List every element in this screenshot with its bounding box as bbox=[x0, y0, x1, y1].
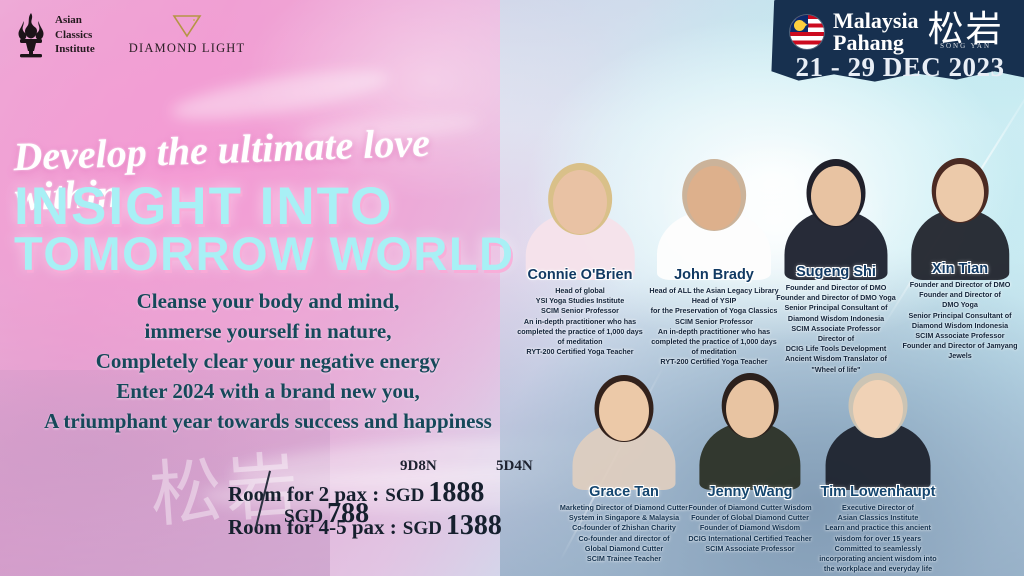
presenter-card: Connie O'BrienHead of globalYSI Yoga Stu… bbox=[504, 268, 656, 357]
presenter-card: Jenny WangFounder of Diamond Cutter Wisd… bbox=[684, 485, 816, 554]
presenter-card: John BradyHead of ALL the Asian Legacy L… bbox=[638, 268, 790, 368]
body-copy-line: Completely clear your negative energy bbox=[18, 346, 518, 376]
presenter-portrait bbox=[821, 360, 935, 490]
pricing-header-5d4n: 5D4N bbox=[496, 458, 533, 475]
presenter-portrait-face bbox=[726, 380, 774, 438]
presenter-bio-line: Head of YSIP bbox=[638, 296, 790, 306]
presenter-name: Tim Lowenhaupt bbox=[808, 485, 948, 501]
presenter-portrait-face bbox=[687, 166, 741, 230]
presenter-bio: Founder and Director of DMOFounder and D… bbox=[896, 280, 1024, 362]
presenter-portrait bbox=[907, 144, 1013, 280]
body-copy: Cleanse your body and mind,immerse yours… bbox=[18, 286, 518, 436]
asian-classics-institute-logo: Asian Classics Institute bbox=[14, 12, 95, 58]
presenter-bio-line: Committed to seamlessly bbox=[808, 544, 948, 554]
presenter-bio-line: SCIM Associate Professor bbox=[896, 331, 1024, 341]
presenter-name: Sugeng Shi bbox=[770, 265, 902, 281]
presenter-bio-line: completed the practice of 1,000 days bbox=[504, 327, 656, 337]
presenter-bio-line: Founder and Director of DMO bbox=[896, 280, 1024, 290]
presenter-bio: Founder of Diamond Cutter WisdomFounder … bbox=[684, 503, 816, 554]
presenter-card: Sugeng ShiFounder and Director of DMOFou… bbox=[770, 265, 902, 375]
presenter-bio-line: Founder of Diamond Wisdom bbox=[684, 523, 816, 533]
presenter-card: Xin TianFounder and Director of DMOFound… bbox=[896, 262, 1024, 362]
presenter-bio-line: of meditation bbox=[504, 337, 656, 347]
aci-line-1: Asian bbox=[55, 13, 95, 28]
presenter-card: Grace TanMarketing Director of Diamond C… bbox=[558, 485, 690, 564]
presenter-bio: Head of ALL the Asian Legacy LibraryHead… bbox=[638, 286, 790, 368]
body-copy-line: immerse yourself in nature, bbox=[18, 316, 518, 346]
presenter-bio-line: for the Preservation of Yoga Classics bbox=[638, 306, 790, 316]
presenter-bio-line: Learn and practice this ancient bbox=[808, 523, 948, 533]
presenter-bio-line: DCIG International Certified Teacher bbox=[684, 534, 816, 544]
presenter-bio-line: incorporating ancient wisdom into bbox=[808, 554, 948, 564]
presenter-bio: Head of globalYSI Yoga Studies Institute… bbox=[504, 286, 656, 358]
torch-flame-icon bbox=[14, 12, 48, 58]
presenter-bio-line: wisdom for over 15 years bbox=[808, 534, 948, 544]
presenter-bio-line: Co-founder of Zhishan Charity bbox=[558, 523, 690, 533]
pricing-column-headers: 9D8N 5D4N bbox=[228, 458, 588, 476]
presenter-portrait-face bbox=[811, 166, 861, 226]
aci-logo-text: Asian Classics Institute bbox=[55, 13, 95, 58]
presenter-bio-line: Director of bbox=[770, 334, 902, 344]
presenter-name: John Brady bbox=[638, 268, 790, 284]
presenter-portrait bbox=[568, 362, 680, 490]
event-poster: 松岩 Asian Classics Institute bbox=[0, 0, 1024, 576]
aci-line-2: Classics bbox=[55, 28, 95, 43]
presenter-bio-line: the workplace and everyday life bbox=[808, 564, 948, 574]
presenter-portrait bbox=[521, 150, 639, 280]
banner-top-row: ✦ Malaysia Pahang 松岩 SONG YAN bbox=[790, 10, 1004, 55]
presenter-bio-line: SCIM Associate Professor bbox=[684, 544, 816, 554]
presenter-bio-line: An in-depth practitioner who has bbox=[504, 317, 656, 327]
price-currency: SGD bbox=[403, 518, 442, 540]
body-copy-line: Enter 2024 with a brand new you, bbox=[18, 376, 518, 406]
presenter-bio-line: Marketing Director of Diamond Cutter bbox=[558, 503, 690, 513]
presenter-bio-line: DCIG Life Tools Development bbox=[770, 344, 902, 354]
presenter-bio-line: Diamond Wisdom Indonesia bbox=[896, 321, 1024, 331]
body-copy-line: Cleanse your body and mind, bbox=[18, 286, 518, 316]
price-currency: SGD bbox=[284, 506, 323, 528]
presenter-bio-line: SCIM Trainee Teacher bbox=[558, 554, 690, 564]
presenter-bio-line: RYT-200 Certified Yoga Teacher bbox=[504, 347, 656, 357]
presenter-bio-line: Head of ALL the Asian Legacy Library bbox=[638, 286, 790, 296]
presenter-name: Xin Tian bbox=[896, 262, 1024, 278]
presenter-bio: Executive Director ofAsian Classics Inst… bbox=[808, 503, 948, 575]
diamond-light-logo: DIAMOND LIGHT bbox=[129, 14, 246, 56]
presenter-portrait-face bbox=[553, 170, 607, 234]
banner-chinese-romaji: SONG YAN bbox=[928, 43, 1004, 50]
presenter-portrait bbox=[652, 146, 776, 280]
banner-location: Malaysia Pahang bbox=[833, 10, 919, 55]
presenter-portrait bbox=[780, 146, 892, 280]
presenter-bio-line: Founder and Director of DMO bbox=[770, 283, 902, 293]
presenter-name: Jenny Wang bbox=[684, 485, 816, 501]
presenter-bio-line: Asian Classics Institute bbox=[808, 513, 948, 523]
banner-location-line1: Malaysia bbox=[833, 10, 919, 32]
logo-bar: Asian Classics Institute DIAMOND LIGHT bbox=[14, 12, 245, 58]
presenter-bio-line: Global Diamond Cutter bbox=[558, 544, 690, 554]
banner-chinese-brand: 松岩 SONG YAN bbox=[928, 11, 1004, 50]
diamond-outline-icon bbox=[160, 14, 214, 40]
presenter-bio-line: Head of global bbox=[504, 286, 656, 296]
event-dates: 21 - 29 DEC 2023 bbox=[790, 52, 1010, 83]
presenter-name: Connie O'Brien bbox=[504, 268, 656, 284]
presenter-bio-line: Diamond Wisdom Indonesia bbox=[770, 314, 902, 324]
presenter-bio: Marketing Director of Diamond CutterSyst… bbox=[558, 503, 690, 564]
presenter-bio-line: YSI Yoga Studies Institute bbox=[504, 296, 656, 306]
presenter-bio-line: Founder and Director of DMO Yoga bbox=[770, 293, 902, 303]
pricing-header-9d8n: 9D8N bbox=[400, 458, 437, 475]
price-amount: 1388 bbox=[446, 510, 502, 542]
price-amount: 788 bbox=[327, 498, 369, 530]
price-amount: 1888 bbox=[428, 477, 484, 509]
presenter-bio-line: An in-depth practitioner who has bbox=[638, 327, 790, 337]
presenter-bio-line: Co-founder and director of bbox=[558, 534, 690, 544]
presenter-portrait bbox=[695, 360, 805, 490]
malaysia-flag-icon: ✦ bbox=[790, 15, 824, 49]
presenter-name: Grace Tan bbox=[558, 485, 690, 501]
presenter-portrait-face bbox=[936, 164, 984, 222]
presenter-bio-line: Founder of Global Diamond Cutter bbox=[684, 513, 816, 523]
presenter-bio-line: SCIM Senior Professor bbox=[638, 317, 790, 327]
presenter-bio-line: Executive Director of bbox=[808, 503, 948, 513]
presenter-bio-line: SCIM Associate Professor bbox=[770, 324, 902, 334]
presenter-bio-line: of meditation bbox=[638, 347, 790, 357]
presenter-bio-line: Founder and Director of Jamyang bbox=[896, 341, 1024, 351]
body-copy-line: A triumphant year towards success and ha… bbox=[18, 406, 518, 436]
presenter-portrait-face bbox=[599, 381, 649, 441]
presenter-portrait-face bbox=[853, 380, 903, 438]
presenter-card: Tim LowenhauptExecutive Director ofAsian… bbox=[808, 485, 948, 574]
presenter-bio-line: Founder of Diamond Cutter Wisdom bbox=[684, 503, 816, 513]
diamond-light-text: DIAMOND LIGHT bbox=[129, 41, 246, 56]
page-title: INSIGHT INTO TOMORROW WORLD bbox=[14, 182, 534, 277]
presenter-bio-line: Senior Principal Consultant of bbox=[770, 303, 902, 313]
aci-line-3: Institute bbox=[55, 42, 95, 57]
title-line-2: TOMORROW WORLD bbox=[14, 232, 534, 277]
presenter-bio-line: System in Singapore & Malaysia bbox=[558, 513, 690, 523]
presenter-bio-line: completed the practice of 1,000 days bbox=[638, 337, 790, 347]
price-currency: SGD bbox=[385, 485, 424, 507]
price-row-alt: SGD 788 bbox=[278, 498, 369, 530]
presenter-bio-line: Senior Principal Consultant of bbox=[896, 311, 1024, 321]
presenter-bio-line: DMO Yoga bbox=[896, 300, 1024, 310]
presenter-bio-line: Founder and Director of bbox=[896, 290, 1024, 300]
presenter-bio-line: SCIM Senior Professor bbox=[504, 306, 656, 316]
